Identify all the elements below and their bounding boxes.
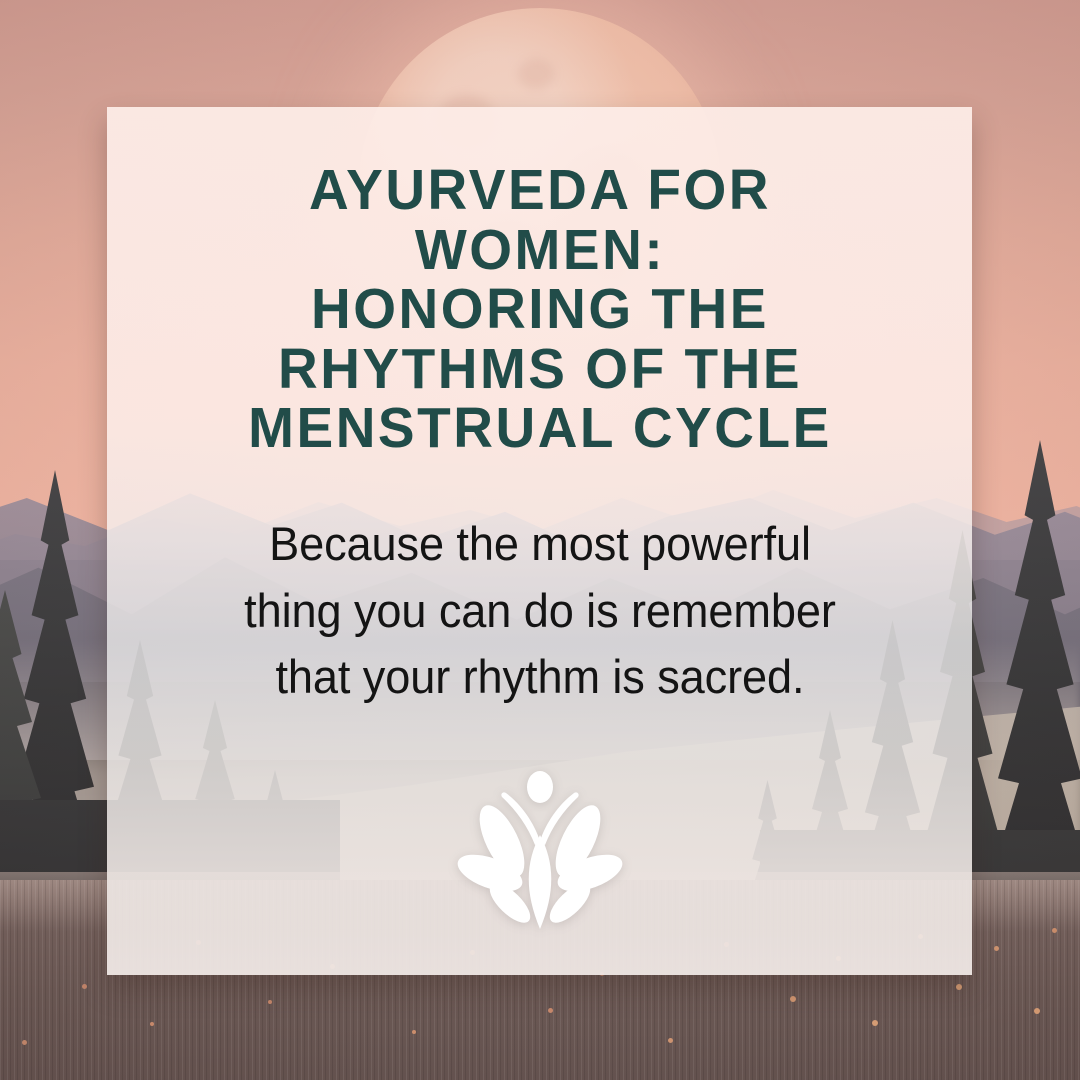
lotus-figure-logo-icon [450, 769, 630, 935]
subtitle-line-3: that your rhythm is sacred. [204, 644, 876, 711]
content-card: Ayurveda for Women: Honoring the Rhythms… [107, 107, 972, 975]
page-subtitle: Because the most powerful thing you can … [204, 459, 876, 711]
title-line-2: Women: [173, 221, 906, 281]
subtitle-line-2: thing you can do is remember [204, 578, 876, 645]
subtitle-line-1: Because the most powerful [204, 511, 876, 578]
title-line-5: Menstrual Cycle [173, 399, 906, 459]
brand-logo [107, 769, 972, 935]
social-post-canvas: Ayurveda for Women: Honoring the Rhythms… [0, 0, 1080, 1080]
title-line-4: Rhythms of the [173, 340, 906, 400]
title-line-1: Ayurveda for [173, 161, 906, 221]
page-title: Ayurveda for Women: Honoring the Rhythms… [173, 107, 906, 459]
title-line-3: Honoring the [173, 280, 906, 340]
